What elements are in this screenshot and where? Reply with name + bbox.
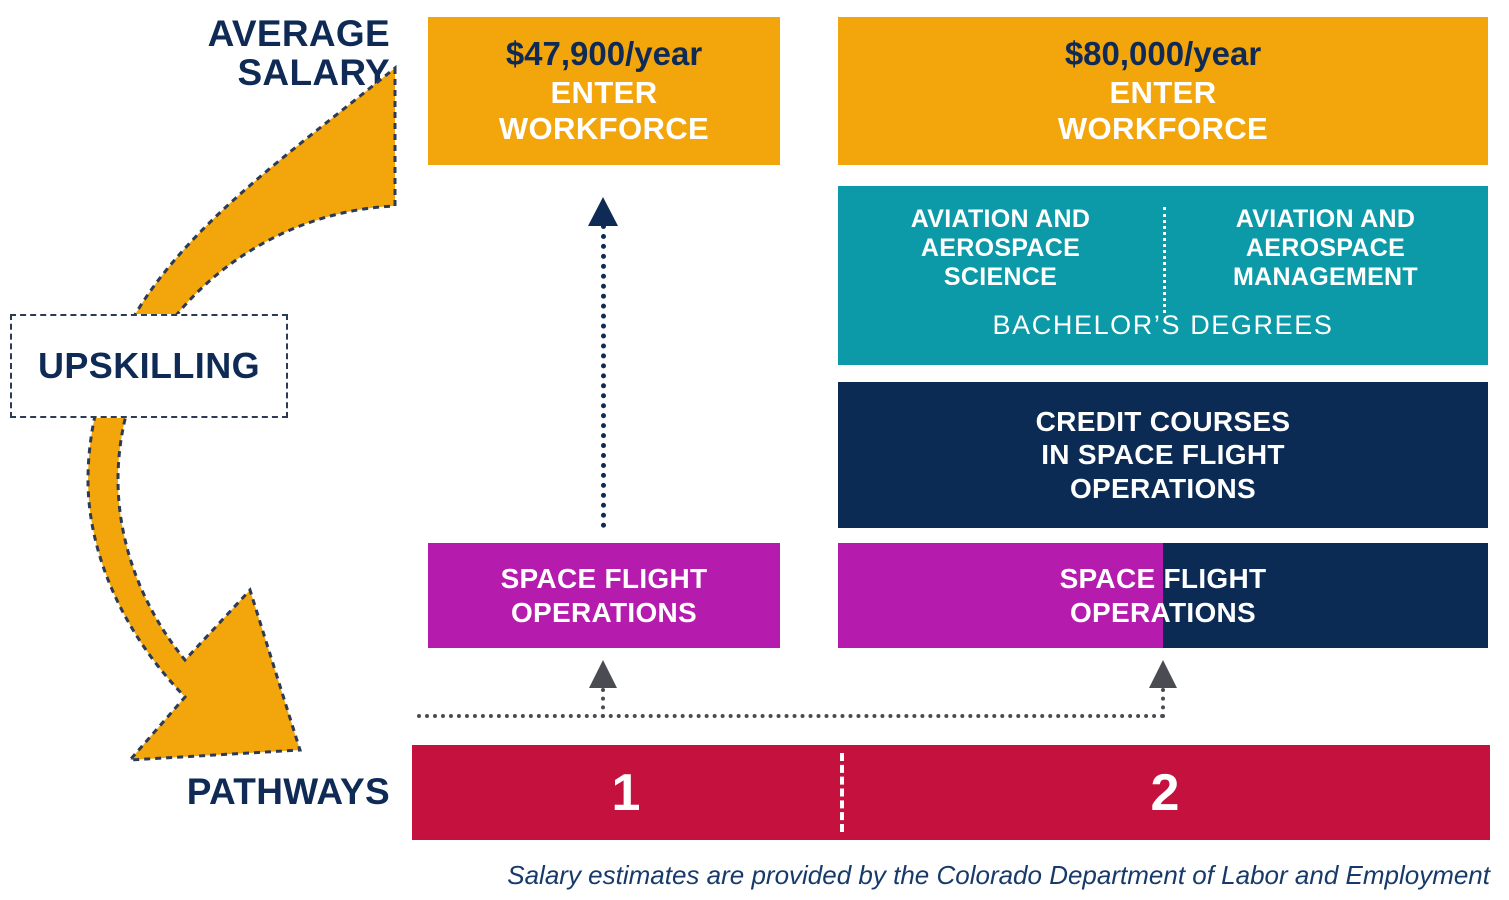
- pathways-label: PATHWAYS: [60, 772, 390, 811]
- degree-2-line3: MANAGEMENT: [1177, 263, 1474, 292]
- pathway-2-program-line2: OPERATIONS: [1070, 596, 1256, 629]
- average-salary-label-line1: AVERAGE: [60, 14, 390, 53]
- footnote: Salary estimates are provided by the Col…: [0, 860, 1490, 891]
- dotted-up-arrow-icon: [588, 197, 618, 226]
- degree-2-line2: AEROSPACE: [1177, 234, 1474, 263]
- pathway-1-connector-arrowhead: [589, 660, 617, 688]
- bachelors-degrees-caption: BACHELOR’S DEGREES: [993, 311, 1334, 340]
- pathway-1-connector-stem: [601, 688, 605, 718]
- dotted-branch-arrow-icon: [417, 714, 1165, 718]
- pathway-2-enter-workforce-line2: WORKFORCE: [1058, 111, 1268, 146]
- bachelors-degree-row: AVIATION AND AEROSPACE SCIENCE AVIATION …: [838, 205, 1488, 291]
- upskilling-label: UPSKILLING: [38, 345, 260, 387]
- credit-courses-line3: OPERATIONS: [1070, 472, 1256, 505]
- degree-2-line1: AVIATION AND: [1177, 205, 1474, 234]
- dotted-up-arrow-stem: [601, 224, 606, 528]
- degree-divider: [1163, 207, 1166, 313]
- pathway-2-program-line1: SPACE FLIGHT: [1060, 562, 1267, 595]
- pathway-2-salary-box: $80,000/year ENTER WORKFORCE: [838, 17, 1488, 165]
- pathway-1-space-flight-operations-block: SPACE FLIGHT OPERATIONS: [428, 543, 780, 648]
- pathway-1-salary-box: $47,900/year ENTER WORKFORCE: [428, 17, 780, 165]
- pathway-1-enter-workforce-line2: WORKFORCE: [499, 111, 709, 146]
- infographic-canvas: AVERAGE SALARY UPSKILLING $47,900/year E…: [0, 0, 1509, 900]
- degree-1-line2: AEROSPACE: [852, 234, 1149, 263]
- degree-1-line1: AVIATION AND: [852, 205, 1149, 234]
- pathway-1-salary-amount: $47,900/year: [506, 36, 702, 72]
- pathway-2-connector-stem: [1161, 688, 1165, 718]
- pathway-2-connector-arrowhead: [1149, 660, 1177, 688]
- degree-1-line3: SCIENCE: [852, 263, 1149, 292]
- pathway-1-enter-workforce-line1: ENTER: [550, 75, 657, 110]
- credit-courses-line2: IN SPACE FLIGHT: [1041, 438, 1285, 471]
- pathway-number-2: 2: [840, 745, 1490, 840]
- pathway-1-program-line2: OPERATIONS: [511, 596, 697, 629]
- degree-aviation-aerospace-science: AVIATION AND AEROSPACE SCIENCE: [838, 205, 1163, 291]
- pathway-2-space-flight-operations-block: SPACE FLIGHT OPERATIONS: [838, 543, 1488, 648]
- credit-courses-block: CREDIT COURSES IN SPACE FLIGHT OPERATION…: [838, 382, 1488, 528]
- upskilling-label-box: UPSKILLING: [10, 314, 288, 418]
- pathways-bar: 1 2: [412, 745, 1490, 840]
- pathway-1-program-line1: SPACE FLIGHT: [501, 562, 708, 595]
- pathways-divider: [840, 753, 844, 832]
- pathway-2-enter-workforce-line1: ENTER: [1109, 75, 1216, 110]
- degree-aviation-aerospace-management: AVIATION AND AEROSPACE MANAGEMENT: [1163, 205, 1488, 291]
- pathway-2-salary-amount: $80,000/year: [1065, 36, 1261, 72]
- credit-courses-line1: CREDIT COURSES: [1036, 405, 1291, 438]
- pathway-number-1: 1: [412, 745, 840, 840]
- bachelors-degrees-block: AVIATION AND AEROSPACE SCIENCE AVIATION …: [838, 186, 1488, 365]
